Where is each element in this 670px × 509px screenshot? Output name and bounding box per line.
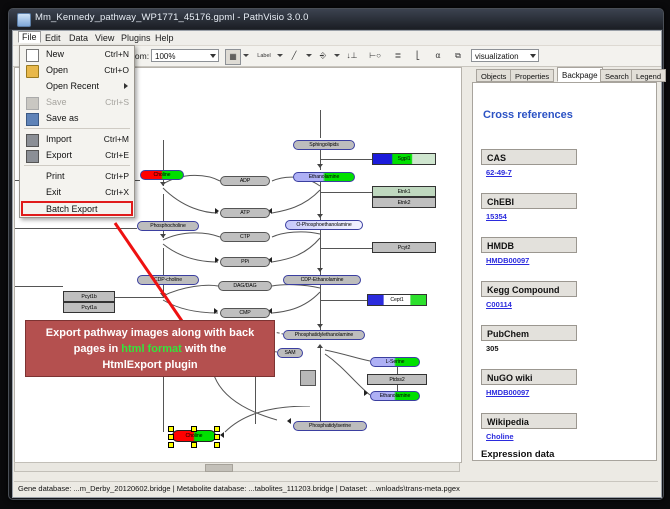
xref-source-label: HMDB (481, 237, 577, 253)
node-cdp-ethanolamine[interactable]: CDP-Ethanolamine (283, 275, 361, 285)
open-folder-icon (26, 65, 39, 78)
gene-cept1[interactable]: Cept1 (367, 294, 427, 306)
xref-value: 305 (481, 344, 577, 353)
align-top-icon[interactable]: ↓⊥ (345, 49, 359, 63)
xref-source-label: ChEBI (481, 193, 577, 209)
screenshot-root: Mm_Kennedy_pathway_WP1771_45176.gpml - P… (0, 0, 670, 509)
xref-cas: CAS 62-49-7 (481, 149, 577, 177)
tab-properties[interactable]: Properties (510, 69, 554, 82)
xref-source-label: Wikipedia (481, 413, 577, 429)
annotation-line2-b: with the (182, 343, 227, 355)
distribute-icon[interactable]: ⎣ (411, 49, 425, 63)
new-file-icon (26, 49, 39, 62)
label-tool-button[interactable]: Label (253, 49, 275, 63)
menu-item-print[interactable]: Print Ctrl+P (20, 168, 134, 184)
save-icon (26, 97, 39, 110)
xref-link[interactable]: HMDB00097 (481, 388, 577, 397)
node-o-phosphoethanolamine[interactable]: O-Phosphoethanolamine (285, 220, 363, 230)
export-icon (26, 150, 39, 163)
title-bar: Mm_Kennedy_pathway_WP1771_45176.gpml - P… (9, 9, 663, 29)
xref-link[interactable]: Choline (481, 432, 577, 441)
align-center-icon[interactable]: ≣ (391, 49, 405, 63)
menu-item-shortcut: Ctrl+E (105, 150, 129, 160)
menu-item-import[interactable]: Import Ctrl+M (20, 131, 134, 147)
application-window: Mm_Kennedy_pathway_WP1771_45176.gpml - P… (8, 8, 664, 500)
menu-item-label: New (46, 49, 64, 59)
scrollbar-thumb[interactable] (205, 464, 233, 472)
backpage-content: Cross references CAS 62-49-7 ChEBI 15354… (472, 82, 657, 461)
menu-view[interactable]: View (91, 32, 118, 44)
xref-link[interactable]: 62-49-7 (481, 168, 577, 177)
cross-references-heading: Cross references (483, 109, 573, 121)
line-tool-button[interactable]: ╱ (287, 49, 301, 63)
file-menu-dropdown[interactable]: New Ctrl+N Open Ctrl+O Open Recent Save … (19, 45, 135, 218)
status-text: Gene database: ...m_Derby_20120602.bridg… (18, 484, 460, 493)
node-ethanolamine-2[interactable]: Ethanolamine (370, 391, 420, 401)
annotation-line2-a: pages in (74, 343, 122, 355)
zoom-value: 100% (155, 52, 175, 61)
visualization-value: visualization (475, 52, 519, 61)
zoom-combobox[interactable]: 100% (151, 49, 219, 62)
xref-source-label: Kegg Compound (481, 281, 577, 297)
chevron-down-icon (210, 54, 216, 58)
pathvisio-icon (17, 13, 31, 27)
tab-backpage[interactable]: Backpage (557, 67, 603, 82)
menu-item-shortcut: Ctrl+P (105, 171, 129, 181)
menu-item-export[interactable]: Export Ctrl+E (20, 147, 134, 163)
chevron-right-icon (124, 83, 128, 89)
window-title: Mm_Kennedy_pathway_WP1771_45176.gpml - P… (35, 12, 309, 23)
menu-plugins[interactable]: Plugins (117, 32, 155, 44)
chevron-down-icon (530, 54, 536, 58)
xref-wikipedia: Wikipedia Choline (481, 413, 577, 441)
menu-edit[interactable]: Edit (41, 32, 65, 44)
resize-handle[interactable] (168, 442, 174, 448)
menu-item-new[interactable]: New Ctrl+N (20, 46, 134, 62)
menu-help[interactable]: Help (151, 32, 178, 44)
menu-item-label: Save (46, 97, 67, 107)
visualization-combobox[interactable]: visualization (471, 49, 539, 62)
app-client-area: File Edit Data View Plugins Help Zoom: 1… (12, 30, 662, 498)
stack-icon[interactable]: ⍺ (431, 49, 445, 63)
menu-item-label: Open (46, 65, 68, 75)
menu-item-label: Print (46, 171, 65, 181)
arc (215, 406, 335, 446)
xref-link[interactable]: C00114 (481, 300, 577, 309)
menu-item-shortcut: Ctrl+O (104, 65, 129, 75)
annotation-highlight: html format (121, 343, 182, 355)
menu-file[interactable]: File (18, 31, 41, 43)
annotation-line1: Export pathway images along with back (26, 325, 274, 341)
menu-item-exit[interactable]: Exit Ctrl+X (20, 184, 134, 200)
menu-separator (24, 128, 130, 129)
menu-item-open-recent[interactable]: Open Recent (20, 78, 134, 94)
menu-item-open[interactable]: Open Ctrl+O (20, 62, 134, 78)
tab-legend[interactable]: Legend (631, 69, 666, 82)
menu-data[interactable]: Data (65, 32, 92, 44)
resize-handle[interactable] (191, 426, 197, 432)
node-l-serine[interactable]: L-Serine (370, 357, 420, 367)
menu-item-shortcut: Ctrl+S (105, 97, 129, 107)
menu-bar: File Edit Data View Plugins Help (13, 31, 661, 46)
menu-item-shortcut: Ctrl+M (104, 134, 129, 144)
xref-link[interactable]: HMDB00097 (481, 256, 577, 265)
group-shape (300, 370, 316, 386)
node-phosphatidylethanolamine[interactable]: Phosphatidylethanolamine (283, 330, 365, 340)
shape-dropdown-icon[interactable] (334, 54, 340, 57)
menu-item-label: Export (46, 150, 72, 160)
xref-pubchem: PubChem 305 (481, 325, 577, 353)
menu-item-label: Open Recent (46, 81, 99, 91)
annotation-line3: HtmlExport plugin (26, 357, 274, 373)
menu-item-save: Save Ctrl+S (20, 94, 134, 110)
side-panel-tabs: Objects Properties Backpage Search Legen… (472, 67, 658, 82)
gene-etnk2[interactable]: Etnk2 (372, 197, 436, 208)
menu-item-shortcut: Ctrl+X (105, 187, 129, 197)
xref-source-label: CAS (481, 149, 577, 165)
save-as-icon (26, 113, 39, 126)
shape-tool-button[interactable]: ⎆ (316, 49, 330, 63)
datanode-dropdown-icon[interactable] (243, 54, 249, 57)
tab-objects[interactable]: Objects (476, 69, 511, 82)
import-icon (26, 134, 39, 147)
xref-chebi: ChEBI 15354 (481, 193, 577, 221)
xref-source-label: NuGO wiki (481, 369, 577, 385)
xref-source-label: PubChem (481, 325, 577, 341)
xref-hmdb: HMDB HMDB00097 (481, 237, 577, 265)
node-sphingolipids[interactable]: Sphingolipids (293, 140, 355, 150)
canvas-hscrollbar[interactable] (14, 462, 460, 472)
annotation-line2: pages in html format with the (26, 341, 274, 357)
node-sam[interactable]: SAM (277, 348, 303, 358)
xref-link[interactable]: 15354 (481, 212, 577, 221)
group-icon[interactable]: ⧉ (451, 49, 465, 63)
menu-item-label: Exit (46, 187, 61, 197)
xref-kegg: Kegg Compound C00114 (481, 281, 577, 309)
menu-item-label: Batch Export (46, 204, 98, 214)
label-dropdown-icon[interactable] (277, 54, 283, 57)
datanode-tool-button[interactable]: ▦ (225, 49, 241, 65)
menu-item-batch-export[interactable]: Batch Export (20, 200, 134, 217)
panel-splitter[interactable] (462, 67, 466, 461)
menu-item-shortcut: Ctrl+N (105, 49, 129, 59)
resize-handle[interactable] (168, 434, 174, 440)
resize-handle[interactable] (191, 442, 197, 448)
menu-item-save-as[interactable]: Save as (20, 110, 134, 126)
gene-sgpl1[interactable]: Sgpl1 (372, 153, 436, 165)
status-bar: Gene database: ...m_Derby_20120602.bridg… (14, 481, 658, 496)
node-ethanolamine[interactable]: Ethanolamine (293, 172, 355, 182)
gene-pcyt2[interactable]: Pcyt2 (372, 242, 436, 253)
gene-ptdss2[interactable]: Ptdss2 (367, 374, 427, 385)
menu-item-label: Save as (46, 113, 79, 123)
line-dropdown-icon[interactable] (306, 54, 312, 57)
menu-separator (24, 165, 130, 166)
side-panel: Objects Properties Backpage Search Legen… (468, 67, 658, 461)
menu-item-label: Import (46, 134, 72, 144)
arrowhead (364, 390, 368, 396)
xref-nugo: NuGO wiki HMDB00097 (481, 369, 577, 397)
tab-search[interactable]: Search (600, 69, 634, 82)
annotation-callout: Export pathway images along with back pa… (25, 320, 275, 377)
expression-data-heading: Expression data (481, 449, 554, 460)
gene-etnk1[interactable]: Etnk1 (372, 186, 436, 197)
align-left-icon[interactable]: ⊢○ (368, 49, 382, 63)
resize-handle[interactable] (168, 426, 174, 432)
